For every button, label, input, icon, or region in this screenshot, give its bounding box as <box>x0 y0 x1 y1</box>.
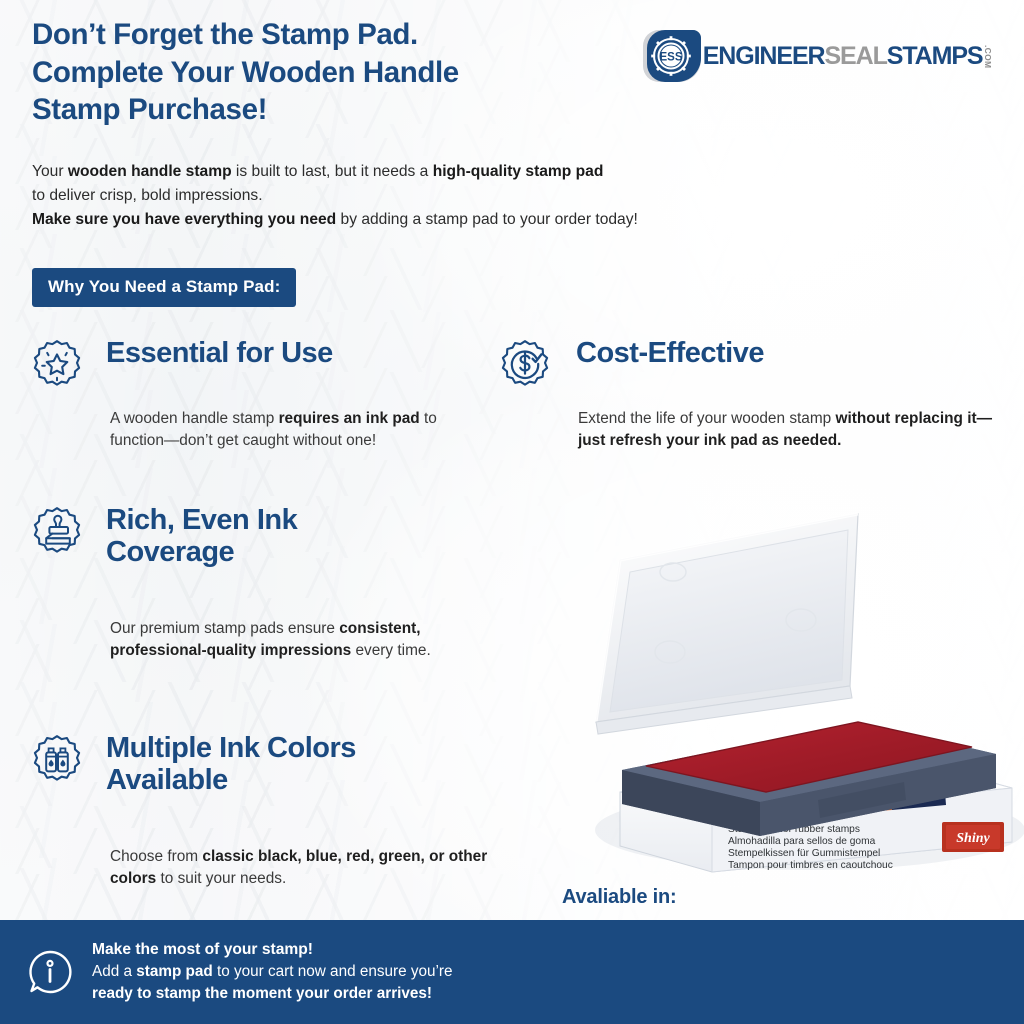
feature-rich-body: Rich, Even Ink Coverage <box>106 505 486 569</box>
ess-gear-logo-icon: ESS <box>643 30 701 82</box>
feature-colors-text: Choose from classic black, blue, red, gr… <box>110 846 530 890</box>
cta-l2-a: Add a <box>92 963 136 980</box>
feat0-text-b: requires an ink pad <box>279 410 420 427</box>
intro-paragraph: Your wooden handle stamp is built to las… <box>32 160 912 232</box>
intro-l1-d: high-quality stamp pad <box>433 163 604 180</box>
why-need-stamp-pad-badge: Why You Need a Stamp Pad: <box>32 268 296 307</box>
cta-line-3: ready to stamp the moment your order arr… <box>92 983 453 1005</box>
feature-rich-title-line-1: Rich, Even Ink <box>106 505 486 537</box>
star-badge-icon <box>28 338 86 396</box>
box-line-2: Almohadilla para sellos de goma <box>728 836 876 847</box>
stamp-badge-icon <box>28 505 86 563</box>
logo-wordmark: ENGINEER SEAL STAMPS .COM <box>703 43 992 68</box>
feat3-text-c: to suit your needs. <box>156 870 286 887</box>
cta-text: Make the most of your stamp! Add a stamp… <box>92 939 453 1005</box>
cta-line-2: Add a stamp pad to your cart now and ens… <box>92 961 453 983</box>
logo-word-engineer: ENGINEER <box>703 44 825 69</box>
svg-text:Shiny: Shiny <box>956 831 990 846</box>
headline-line-1: Don’t Forget the Stamp Pad. <box>32 16 652 54</box>
cta-line-1: Make the most of your stamp! <box>92 939 453 961</box>
feature-colors-title-line-2: Available <box>106 765 548 797</box>
feature-essential-text: A wooden handle stamp requires an ink pa… <box>110 408 482 452</box>
feature-essential-for-use: Essential for Use <box>28 338 498 396</box>
shiny-brand-logo: Shiny <box>942 822 1004 852</box>
feature-essential-title: Essential for Use <box>106 338 486 370</box>
box-line-4: Tampon pour timbres en caoutchouc <box>728 860 893 871</box>
brand-logo[interactable]: ESS ENGINEER SEAL STAMPS .COM <box>643 30 992 82</box>
box-line-3: Stempelkissen für Gummistempel <box>728 848 880 859</box>
feature-colors-body: Multiple Ink Colors Available <box>106 733 548 797</box>
logo-word-seal: SEAL <box>824 44 886 69</box>
infographic-page: Don’t Forget the Stamp Pad. Complete You… <box>0 0 1024 1024</box>
intro-line-1: Your wooden handle stamp is built to las… <box>32 160 912 184</box>
intro-l3-a: Make sure you have everything you need <box>32 211 336 228</box>
feature-essential-body: Essential for Use <box>106 338 486 396</box>
feat1-text-a: Extend the life of your wooden stamp <box>578 410 836 427</box>
feat0-text-a: A wooden handle stamp <box>110 410 279 427</box>
feature-rich-text: Our premium stamp pads ensure consistent… <box>110 618 460 662</box>
header: Don’t Forget the Stamp Pad. Complete You… <box>32 16 992 136</box>
intro-l1-a: Your <box>32 163 68 180</box>
feature-multiple-ink-colors: Multiple Ink Colors Available <box>28 733 548 797</box>
feature-cost-body: Cost-Effective <box>576 338 1006 396</box>
feat3-text-a: Choose from <box>110 848 202 865</box>
page-title: Don’t Forget the Stamp Pad. Complete You… <box>32 16 652 129</box>
feat2-text-c: every time. <box>351 642 431 659</box>
cta-line-3-text: ready to stamp the moment your order arr… <box>92 985 432 1002</box>
feat2-text-a: Our premium stamp pads ensure <box>110 620 339 637</box>
dollar-check-badge-icon <box>496 338 554 396</box>
svg-text:ESS: ESS <box>659 52 682 64</box>
feature-colors-title-line-1: Multiple Ink Colors <box>106 733 548 765</box>
feature-rich-even-ink-coverage: Rich, Even Ink Coverage <box>28 505 498 569</box>
ink-bottles-badge-icon <box>28 733 86 791</box>
intro-line-3: Make sure you have everything you need b… <box>32 208 912 232</box>
intro-l3-b: by adding a stamp pad to your order toda… <box>336 211 638 228</box>
info-bubble-icon <box>26 948 74 996</box>
feature-rich-title-line-2: Coverage <box>106 537 486 569</box>
logo-tld: .COM <box>984 45 993 68</box>
logo-word-stamps: STAMPS <box>887 44 983 69</box>
headline-line-3: Stamp Purchase! <box>32 91 652 129</box>
intro-l1-b: wooden handle stamp <box>68 163 232 180</box>
feature-cost-effective: Cost-Effective <box>496 338 1016 396</box>
cta-l2-b: stamp pad <box>136 963 213 980</box>
available-in-title: Avaliable in: <box>562 886 676 909</box>
product-photo-stamp-pad: Stamp pad for rubber stamps Almohadilla … <box>560 470 1024 890</box>
cta-l2-c: to your cart now and ensure you’re <box>213 963 453 980</box>
feature-cost-title: Cost-Effective <box>576 338 1006 370</box>
headline-line-2: Complete Your Wooden Handle <box>32 54 652 92</box>
feature-cost-text: Extend the life of your wooden stamp wit… <box>578 408 1008 452</box>
intro-line-2: to deliver crisp, bold impressions. <box>32 184 912 208</box>
intro-l1-c: is built to last, but it needs a <box>232 163 433 180</box>
cta-bar: Make the most of your stamp! Add a stamp… <box>0 920 1024 1024</box>
